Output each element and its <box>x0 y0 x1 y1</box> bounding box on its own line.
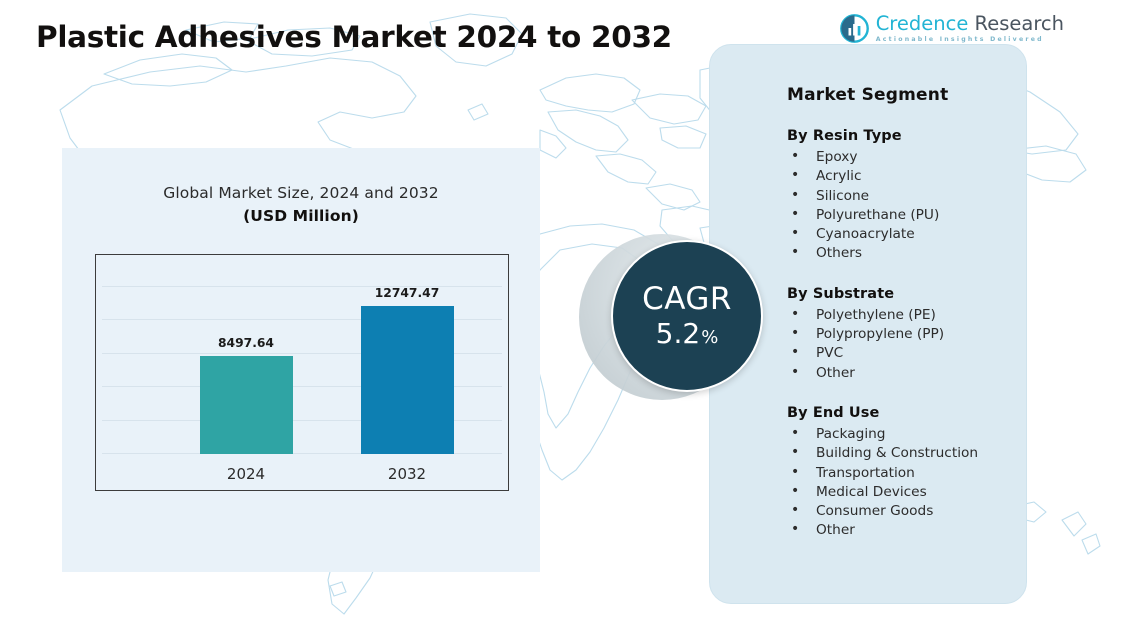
cagr-badge: CAGR 5.2% <box>571 226 771 426</box>
chart-bars-layer: 8497.64202412747.472032 <box>96 255 508 490</box>
segment-list-item: Cyanoacrylate <box>787 225 1016 244</box>
segment-group-heading: By Resin Type <box>787 128 1016 144</box>
credence-research-logo: Credence Research Actionable Insights De… <box>840 13 1064 43</box>
segment-list-item: PVC <box>787 344 1016 363</box>
segment-list-item: Transportation <box>787 464 1016 483</box>
logo-word-primary: Credence <box>876 12 969 35</box>
segment-item-list: EpoxyAcrylicSiliconePolyurethane (PU)Cya… <box>787 148 1016 264</box>
segment-list-item: Polyethylene (PE) <box>787 306 1016 325</box>
chart-panel: Global Market Size, 2024 and 2032 (USD M… <box>62 148 540 572</box>
cagr-circle: CAGR 5.2% <box>611 240 763 392</box>
cagr-number: 5.2 <box>656 320 701 348</box>
segment-group: By Resin TypeEpoxyAcrylicSiliconePolyure… <box>787 128 1016 264</box>
chart-bar-value-label: 8497.64 <box>186 336 306 350</box>
page-title: Plastic Adhesives Market 2024 to 2032 <box>36 20 672 54</box>
segment-group-heading: By End Use <box>787 405 1016 421</box>
bar-chart-plot-area: 8497.64202412747.472032 <box>95 254 509 491</box>
segment-groups: By Resin TypeEpoxyAcrylicSiliconePolyure… <box>787 128 1016 541</box>
segment-list-item: Medical Devices <box>787 483 1016 502</box>
segment-group: By SubstratePolyethylene (PE)Polypropyle… <box>787 286 1016 383</box>
segment-group-heading: By Substrate <box>787 286 1016 302</box>
chart-bar <box>361 306 454 454</box>
segment-list-item: Acrylic <box>787 167 1016 186</box>
chart-category-label: 2032 <box>347 465 467 483</box>
segment-item-list: Polyethylene (PE)Polypropylene (PP)PVCOt… <box>787 306 1016 383</box>
bar-chart-circle-icon <box>840 14 869 43</box>
logo-word-secondary: Research <box>968 12 1064 35</box>
segment-list-item: Packaging <box>787 425 1016 444</box>
segment-list-item: Consumer Goods <box>787 502 1016 521</box>
chart-bar-value-label: 12747.47 <box>347 286 467 300</box>
segment-list-item: Silicone <box>787 187 1016 206</box>
segment-list-item: Others <box>787 244 1016 263</box>
chart-category-label: 2024 <box>186 465 306 483</box>
cagr-value: 5.2% <box>656 320 719 348</box>
segment-list-item: Polyurethane (PU) <box>787 206 1016 225</box>
segment-group: By End UsePackagingBuilding & Constructi… <box>787 405 1016 541</box>
cagr-label: CAGR <box>642 284 732 315</box>
market-segment-title: Market Segment <box>787 85 1016 105</box>
segment-list-item: Polypropylene (PP) <box>787 325 1016 344</box>
chart-subtitle: (USD Million) <box>62 207 540 225</box>
chart-bar <box>200 356 293 454</box>
logo-wordmark: Credence Research <box>876 14 1064 34</box>
segment-list-item: Other <box>787 364 1016 383</box>
segment-list-item: Building & Construction <box>787 444 1016 463</box>
chart-title: Global Market Size, 2024 and 2032 <box>62 184 540 202</box>
segment-list-item: Epoxy <box>787 148 1016 167</box>
cagr-percent-sign: % <box>701 329 718 347</box>
segment-item-list: PackagingBuilding & ConstructionTranspor… <box>787 425 1016 541</box>
segment-list-item: Other <box>787 521 1016 540</box>
logo-tagline: Actionable Insights Delivered <box>876 36 1064 43</box>
